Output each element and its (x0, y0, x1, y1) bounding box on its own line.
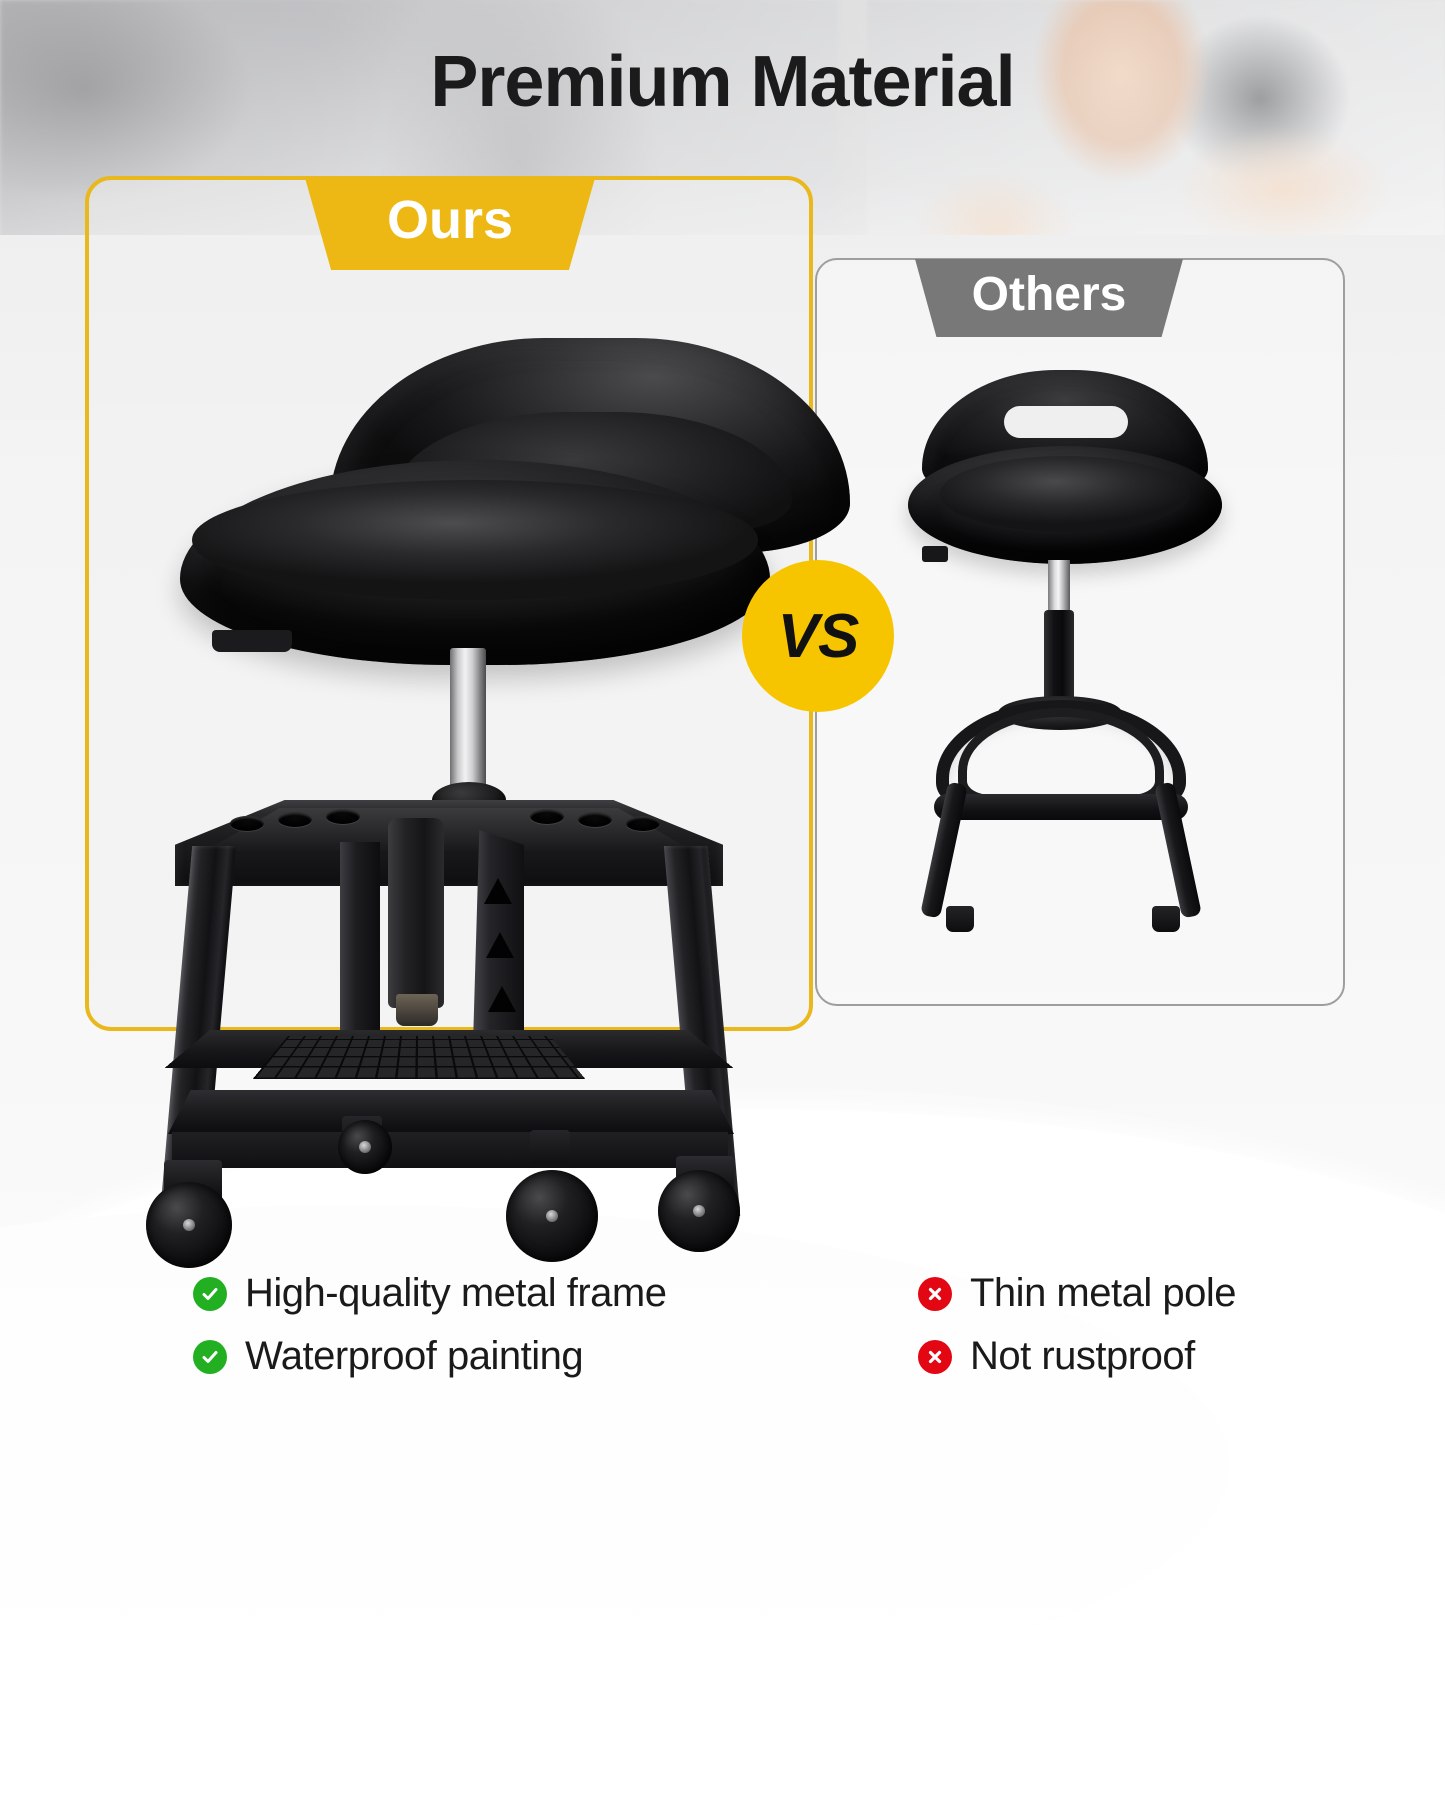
others-thin-pole (1044, 610, 1074, 706)
frame-cutout (486, 932, 514, 958)
pros-column: High-quality metal frame Waterproof pain… (193, 1262, 667, 1388)
others-seat-top (940, 456, 1190, 532)
list-item-label: Not rustproof (970, 1334, 1195, 1379)
x-circle-icon (918, 1340, 952, 1374)
check-circle-icon (193, 1340, 227, 1374)
others-height-lever (922, 546, 948, 562)
others-footrest-ring (934, 794, 1188, 820)
ours-badge: Ours (305, 178, 595, 270)
caster-wheel (658, 1170, 740, 1252)
tool-hole (626, 816, 660, 831)
list-item: Waterproof painting (193, 1325, 667, 1388)
check-circle-icon (193, 1277, 227, 1311)
shelf-lower-rail (172, 1132, 728, 1168)
others-leg-right (1154, 781, 1202, 918)
others-rubber-foot (1152, 906, 1180, 932)
caster-wheel-front (506, 1170, 598, 1262)
caster-hub (693, 1205, 705, 1217)
tool-hole (278, 812, 312, 827)
caster-wheel-rear (338, 1120, 392, 1174)
shelf-front-rail (168, 1090, 734, 1134)
gas-cylinder-tip (396, 994, 438, 1026)
tool-hole (578, 812, 612, 827)
tool-hole (530, 809, 564, 824)
list-item-label: Waterproof painting (245, 1334, 583, 1379)
seat-cushion-highlight (192, 480, 758, 600)
others-product-image (900, 370, 1240, 940)
others-backrest-handle-slot (1004, 406, 1128, 438)
tool-hole (230, 816, 264, 831)
frame-top-face (200, 808, 698, 854)
vs-badge: VS (742, 560, 894, 712)
frame-cutout (484, 878, 512, 904)
list-item: Not rustproof (918, 1325, 1236, 1388)
mesh-tray (253, 1036, 585, 1079)
page-title: Premium Material (0, 46, 1445, 118)
list-item-label: Thin metal pole (970, 1271, 1236, 1316)
caster-wheel (146, 1182, 232, 1268)
others-leg-left (920, 781, 968, 918)
seat-height-lever (212, 630, 292, 652)
x-circle-icon (918, 1277, 952, 1311)
others-chrome-post (1048, 560, 1070, 616)
chrome-gas-post (450, 648, 486, 796)
list-item: High-quality metal frame (193, 1262, 667, 1325)
feature-comparison-lists: High-quality metal frame Waterproof pain… (0, 1262, 1445, 1388)
tool-hole (326, 809, 360, 824)
caster-hub (183, 1219, 195, 1231)
caster-mount-front (530, 1130, 570, 1164)
ours-badge-label: Ours (387, 189, 513, 251)
frame-cutout (488, 986, 516, 1012)
list-item-label: High-quality metal frame (245, 1271, 667, 1316)
others-badge-label: Others (972, 267, 1127, 322)
gas-cylinder (388, 818, 444, 1008)
others-rubber-foot (946, 906, 974, 932)
caster-hub (546, 1210, 558, 1222)
cons-column: Thin metal pole Not rustproof (918, 1262, 1236, 1388)
caster-hub (359, 1141, 371, 1153)
ours-product-image (120, 330, 780, 1220)
list-item: Thin metal pole (918, 1262, 1236, 1325)
others-badge: Others (915, 259, 1183, 337)
